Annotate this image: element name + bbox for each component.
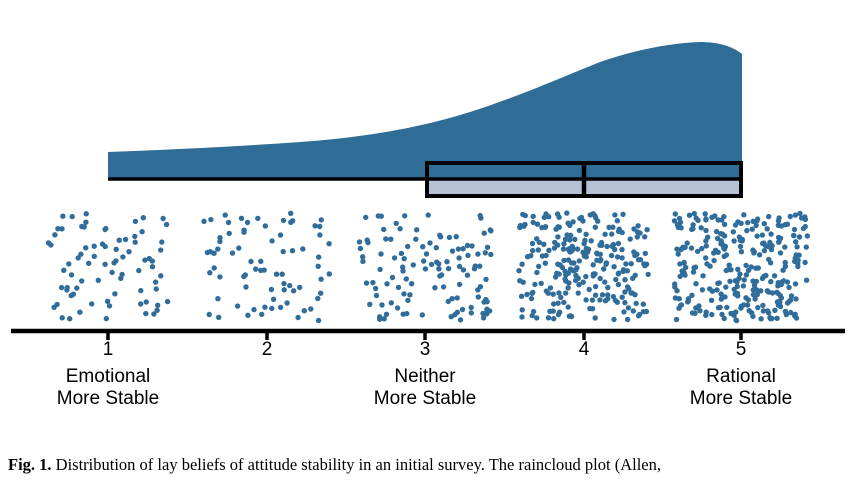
data-point — [758, 316, 763, 321]
data-point — [792, 259, 797, 264]
data-point — [632, 292, 637, 297]
data-point — [766, 310, 771, 315]
data-point — [556, 215, 561, 220]
data-point — [358, 246, 363, 251]
data-point — [519, 294, 524, 299]
data-point — [563, 278, 568, 283]
data-point — [687, 213, 692, 218]
data-point — [357, 239, 362, 244]
data-point — [475, 251, 480, 256]
data-point — [784, 312, 789, 317]
data-point — [230, 250, 235, 255]
data-point — [753, 266, 758, 271]
data-point — [693, 281, 698, 286]
data-point — [226, 220, 231, 225]
tick-label-4: 4 — [524, 340, 644, 360]
scatter-points-layer — [46, 210, 810, 323]
data-point — [235, 303, 240, 308]
data-point — [600, 292, 605, 297]
data-point — [519, 262, 524, 267]
data-point — [287, 283, 292, 288]
data-point — [317, 232, 322, 237]
data-point — [46, 240, 51, 245]
data-point — [769, 247, 774, 252]
data-point — [251, 307, 256, 312]
data-point — [395, 305, 400, 310]
data-point — [300, 246, 305, 251]
data-point — [677, 216, 682, 221]
data-point — [543, 261, 548, 266]
data-point — [78, 252, 83, 257]
data-point — [158, 247, 163, 252]
data-point — [401, 312, 406, 317]
data-point — [551, 301, 556, 306]
data-point — [288, 211, 293, 216]
data-point — [733, 317, 738, 322]
data-point — [635, 229, 640, 234]
data-point — [217, 274, 222, 279]
data-point — [379, 302, 384, 307]
data-point — [619, 255, 624, 260]
data-point — [737, 271, 742, 276]
data-point — [752, 249, 757, 254]
data-point — [643, 251, 648, 256]
data-point — [517, 278, 522, 283]
data-point — [558, 295, 563, 300]
data-point — [611, 264, 616, 269]
data-point — [217, 239, 222, 244]
data-point — [598, 258, 603, 263]
data-point — [441, 284, 446, 289]
data-point — [591, 262, 596, 267]
figure-caption: Fig. 1. Distribution of lay beliefs of a… — [8, 455, 864, 475]
data-point — [695, 218, 700, 223]
data-point — [579, 215, 584, 220]
density-cloud — [108, 42, 742, 178]
data-point — [271, 297, 276, 302]
data-point — [595, 219, 600, 224]
data-point — [243, 284, 248, 289]
data-point — [278, 232, 283, 237]
data-point — [536, 247, 541, 252]
data-point — [414, 227, 419, 232]
anchor-line-1: Rational — [636, 366, 846, 388]
data-point — [378, 251, 383, 256]
anchor-line-1: Neither — [320, 366, 530, 388]
data-point — [615, 254, 620, 259]
data-point — [602, 279, 607, 284]
data-point — [555, 234, 560, 239]
data-point — [635, 223, 640, 228]
data-point — [605, 285, 610, 290]
data-point — [797, 234, 802, 239]
data-point — [482, 231, 487, 236]
data-point — [555, 262, 560, 267]
data-point — [622, 300, 627, 305]
data-point — [642, 263, 647, 268]
data-point — [364, 280, 369, 285]
data-point — [594, 251, 599, 256]
data-point — [575, 246, 580, 251]
data-point — [531, 214, 536, 219]
data-point — [616, 241, 621, 246]
data-point — [92, 254, 97, 259]
data-point — [714, 287, 719, 292]
data-point — [546, 315, 551, 320]
data-point — [141, 215, 146, 220]
data-point — [723, 284, 728, 289]
anchor-line-2: More Stable — [320, 388, 530, 410]
data-point — [803, 217, 808, 222]
data-point — [102, 262, 107, 267]
data-point — [562, 269, 567, 274]
data-point — [699, 225, 704, 230]
data-point — [455, 310, 460, 315]
data-point — [66, 261, 71, 266]
data-point — [707, 286, 712, 291]
data-point — [554, 271, 559, 276]
data-point — [631, 308, 636, 313]
data-point — [583, 297, 588, 302]
data-point — [604, 260, 609, 265]
data-point — [79, 278, 84, 283]
data-point — [312, 223, 317, 228]
data-point — [776, 218, 781, 223]
anchor-label-neither: Neither More Stable — [320, 366, 530, 410]
data-point — [634, 252, 639, 257]
data-point — [297, 285, 302, 290]
data-point — [245, 220, 250, 225]
data-point — [164, 222, 169, 227]
data-point — [682, 272, 687, 277]
data-point — [281, 218, 286, 223]
data-point — [576, 290, 581, 295]
data-point — [450, 248, 455, 253]
data-point — [763, 243, 768, 248]
data-point — [581, 280, 586, 285]
data-point — [392, 255, 397, 260]
data-point — [316, 318, 321, 323]
data-point — [769, 316, 774, 321]
data-point — [636, 257, 641, 262]
data-point — [791, 233, 796, 238]
tick-label-5: 5 — [681, 340, 801, 360]
data-point — [676, 251, 681, 256]
data-point — [154, 286, 159, 291]
data-point — [628, 236, 633, 241]
data-point — [227, 231, 232, 236]
data-point — [747, 308, 752, 313]
data-point — [626, 305, 631, 310]
data-point — [484, 299, 489, 304]
data-point — [611, 294, 616, 299]
data-point — [269, 238, 274, 243]
data-point — [796, 253, 801, 258]
data-point — [530, 241, 535, 246]
data-point — [792, 227, 797, 232]
data-point — [520, 212, 525, 217]
data-point — [738, 305, 743, 310]
data-point — [766, 289, 771, 294]
data-point — [733, 309, 738, 314]
data-point — [60, 315, 65, 320]
data-point — [460, 246, 465, 251]
scatter-group-4 — [516, 210, 651, 322]
data-point — [118, 276, 123, 281]
data-point — [516, 268, 521, 273]
data-point — [703, 228, 708, 233]
data-point — [302, 308, 307, 313]
data-point — [746, 297, 751, 302]
data-point — [543, 211, 548, 216]
data-point — [779, 223, 784, 228]
data-point — [745, 220, 750, 225]
data-point — [120, 254, 125, 259]
data-point — [295, 315, 300, 320]
data-point — [444, 259, 449, 264]
data-point — [447, 235, 452, 240]
data-point — [587, 287, 592, 292]
data-point — [597, 297, 602, 302]
scatter-group-1 — [46, 211, 170, 321]
data-point — [317, 224, 322, 229]
data-point — [420, 312, 425, 317]
data-point — [561, 300, 566, 305]
data-point — [758, 288, 763, 293]
data-point — [446, 299, 451, 304]
data-point — [236, 245, 241, 250]
data-point — [483, 277, 488, 282]
data-point — [683, 265, 688, 270]
data-point — [473, 263, 478, 268]
data-point — [485, 245, 490, 250]
data-point — [525, 254, 530, 259]
data-point — [709, 298, 714, 303]
data-point — [571, 268, 576, 273]
data-point — [772, 308, 777, 313]
data-point — [552, 245, 557, 250]
data-point — [54, 302, 59, 307]
data-point — [488, 252, 493, 257]
tick-label-3: 3 — [365, 340, 485, 360]
data-point — [794, 244, 799, 249]
data-point — [744, 228, 749, 233]
data-point — [531, 309, 536, 314]
data-point — [742, 277, 747, 282]
data-point — [327, 271, 332, 276]
data-point — [695, 249, 700, 254]
data-point — [685, 240, 690, 245]
data-point — [569, 314, 574, 319]
data-point — [239, 216, 244, 221]
data-point — [437, 233, 442, 238]
data-point — [109, 270, 114, 275]
data-point — [290, 218, 295, 223]
data-point — [615, 218, 620, 223]
data-point — [212, 265, 217, 270]
data-point — [568, 233, 573, 238]
data-point — [420, 244, 425, 249]
data-point — [138, 301, 143, 306]
data-point — [215, 246, 220, 251]
data-point — [281, 281, 286, 286]
tick-label-2: 2 — [207, 340, 327, 360]
data-point — [644, 227, 649, 232]
data-point — [577, 258, 582, 263]
density-curve — [108, 42, 742, 178]
data-point — [565, 285, 570, 290]
data-point — [804, 244, 809, 249]
data-point — [318, 291, 323, 296]
data-point — [633, 273, 638, 278]
data-point — [427, 240, 432, 245]
data-point — [269, 287, 274, 292]
data-point — [722, 233, 727, 238]
data-point — [248, 259, 253, 264]
data-point — [598, 276, 603, 281]
figure-container: 1 2 3 4 5 Emotional More Stable Neither … — [0, 0, 864, 488]
data-point — [719, 296, 724, 301]
data-point — [86, 261, 91, 266]
data-point — [601, 266, 606, 271]
data-point — [724, 252, 729, 257]
data-point — [615, 300, 620, 305]
data-point — [738, 244, 743, 249]
data-point — [557, 225, 562, 230]
data-point — [100, 241, 105, 246]
data-point — [478, 284, 483, 289]
data-point — [561, 246, 566, 251]
data-point — [370, 280, 375, 285]
scatter-group-5 — [672, 211, 810, 323]
data-point — [382, 316, 387, 321]
data-point — [483, 250, 488, 255]
data-point — [546, 248, 551, 253]
data-point — [208, 217, 213, 222]
data-point — [762, 221, 767, 226]
data-point — [404, 276, 409, 281]
data-point — [394, 221, 399, 226]
data-point — [139, 229, 144, 234]
data-point — [738, 221, 743, 226]
data-point — [69, 272, 74, 277]
data-point — [755, 305, 760, 310]
data-point — [752, 283, 757, 288]
data-point — [84, 211, 89, 216]
data-point — [629, 261, 634, 266]
data-point — [757, 252, 762, 257]
data-point — [621, 309, 626, 314]
data-point — [530, 290, 535, 295]
data-point — [92, 244, 97, 249]
data-point — [423, 266, 428, 271]
data-point — [774, 290, 779, 295]
data-point — [123, 237, 128, 242]
data-point — [405, 244, 410, 249]
data-point — [722, 222, 727, 227]
data-point — [717, 305, 722, 310]
data-point — [521, 224, 526, 229]
data-point — [788, 214, 793, 219]
data-point — [776, 235, 781, 240]
data-point — [83, 220, 88, 225]
data-point — [536, 264, 541, 269]
data-point — [274, 272, 279, 277]
data-point — [143, 311, 148, 316]
data-point — [411, 262, 416, 267]
data-point — [413, 237, 418, 242]
data-point — [89, 301, 94, 306]
data-point — [439, 272, 444, 277]
data-point — [724, 305, 729, 310]
data-point — [67, 316, 72, 321]
data-point — [564, 210, 569, 215]
data-point — [138, 288, 143, 293]
data-point — [733, 222, 738, 227]
data-point — [269, 306, 274, 311]
data-point — [133, 219, 138, 224]
data-point — [735, 267, 740, 272]
data-point — [258, 259, 263, 264]
data-point — [241, 228, 246, 233]
data-point — [155, 303, 160, 308]
data-point — [112, 291, 117, 296]
data-point — [780, 268, 785, 273]
data-point — [774, 316, 779, 321]
data-point — [308, 306, 313, 311]
data-point — [70, 214, 75, 219]
data-point — [318, 277, 323, 282]
data-point — [107, 303, 112, 308]
data-point — [789, 293, 794, 298]
data-point — [136, 268, 141, 273]
data-point — [768, 231, 773, 236]
data-point — [760, 303, 765, 308]
data-point — [804, 278, 809, 283]
data-point — [634, 301, 639, 306]
data-point — [405, 298, 410, 303]
data-point — [407, 292, 412, 297]
data-point — [460, 307, 465, 312]
data-point — [524, 292, 529, 297]
data-point — [677, 296, 682, 301]
data-point — [79, 224, 84, 229]
data-point — [216, 315, 221, 320]
data-point — [255, 216, 260, 221]
data-point — [583, 232, 588, 237]
tick-label-1: 1 — [48, 340, 168, 360]
data-point — [760, 232, 765, 237]
data-point — [711, 258, 716, 263]
data-point — [316, 264, 321, 269]
data-point — [436, 266, 441, 271]
data-point — [802, 260, 807, 265]
data-point — [751, 292, 756, 297]
data-point — [154, 308, 159, 313]
data-point — [457, 264, 462, 269]
data-point — [731, 229, 736, 234]
data-point — [426, 212, 431, 217]
data-point — [400, 268, 405, 273]
data-point — [556, 312, 561, 317]
data-point — [768, 279, 773, 284]
data-point — [768, 260, 773, 265]
data-point — [761, 274, 766, 279]
data-point — [793, 296, 798, 301]
data-point — [727, 279, 732, 284]
data-point — [373, 286, 378, 291]
data-point — [623, 261, 628, 266]
